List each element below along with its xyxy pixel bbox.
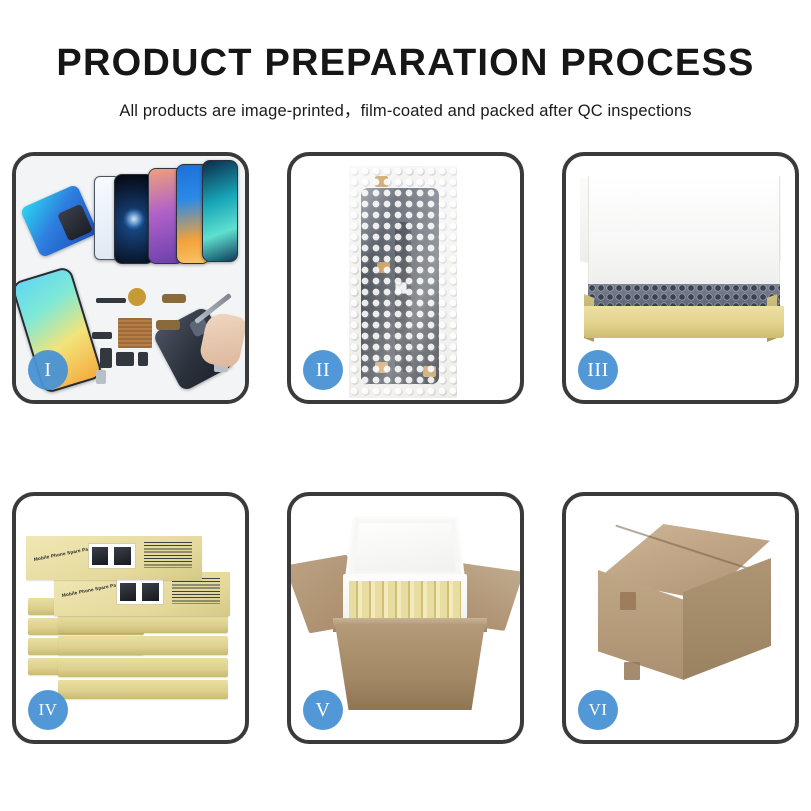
bubble-wrapped-contents [588,284,780,308]
phone-screen-teal-icon [202,160,238,262]
carton-tape-lower [624,662,640,680]
step-badge-4: IV [28,690,68,730]
step-panel-4[interactable]: Mobile Phone Spare Parts Mobile Phone Sp… [12,492,249,744]
step-panel-2[interactable]: II [287,152,524,404]
camera-part-icon [100,348,112,368]
flex-cable-part-icon [162,294,186,303]
vibrator-part-icon [116,352,134,366]
connector-part-icon [92,332,112,339]
step-panel-5[interactable]: V [287,492,524,744]
speaker-part-icon [128,288,146,306]
page-title: PRODUCT PREPARATION PROCESS [0,44,811,84]
step-badge-6: VI [578,690,618,730]
step-panel-3[interactable]: III [562,152,799,404]
ribbon-part-icon [156,320,180,330]
process-steps-grid: I II [12,152,799,744]
step-panel-6[interactable]: VI [562,492,799,744]
kraft-tray-front [584,306,784,338]
step-badge-5: V [303,690,343,730]
flex-strip-part-icon [96,298,126,303]
foam-lid [345,517,466,580]
packed-kraft-boxes [349,581,461,621]
header: PRODUCT PREPARATION PROCESS All products… [0,0,811,121]
page-subtitle: All products are image-printed，film-coat… [0,97,811,121]
plastic-bag-sheen [349,166,457,398]
sim-tray-part-icon [96,370,106,384]
carton-tape-upper [620,592,636,610]
foam-sheet [592,232,776,292]
product-preparation-process-page: PRODUCT PREPARATION PROCESS All products… [0,0,811,811]
logic-board-part-icon [118,318,152,348]
button-part-icon [138,352,148,366]
step-badge-2: II [303,350,343,390]
step-panel-1[interactable]: I [12,152,249,404]
step-badge-1: I [28,350,68,390]
carton-body [335,624,485,710]
step-badge-3: III [578,350,618,390]
